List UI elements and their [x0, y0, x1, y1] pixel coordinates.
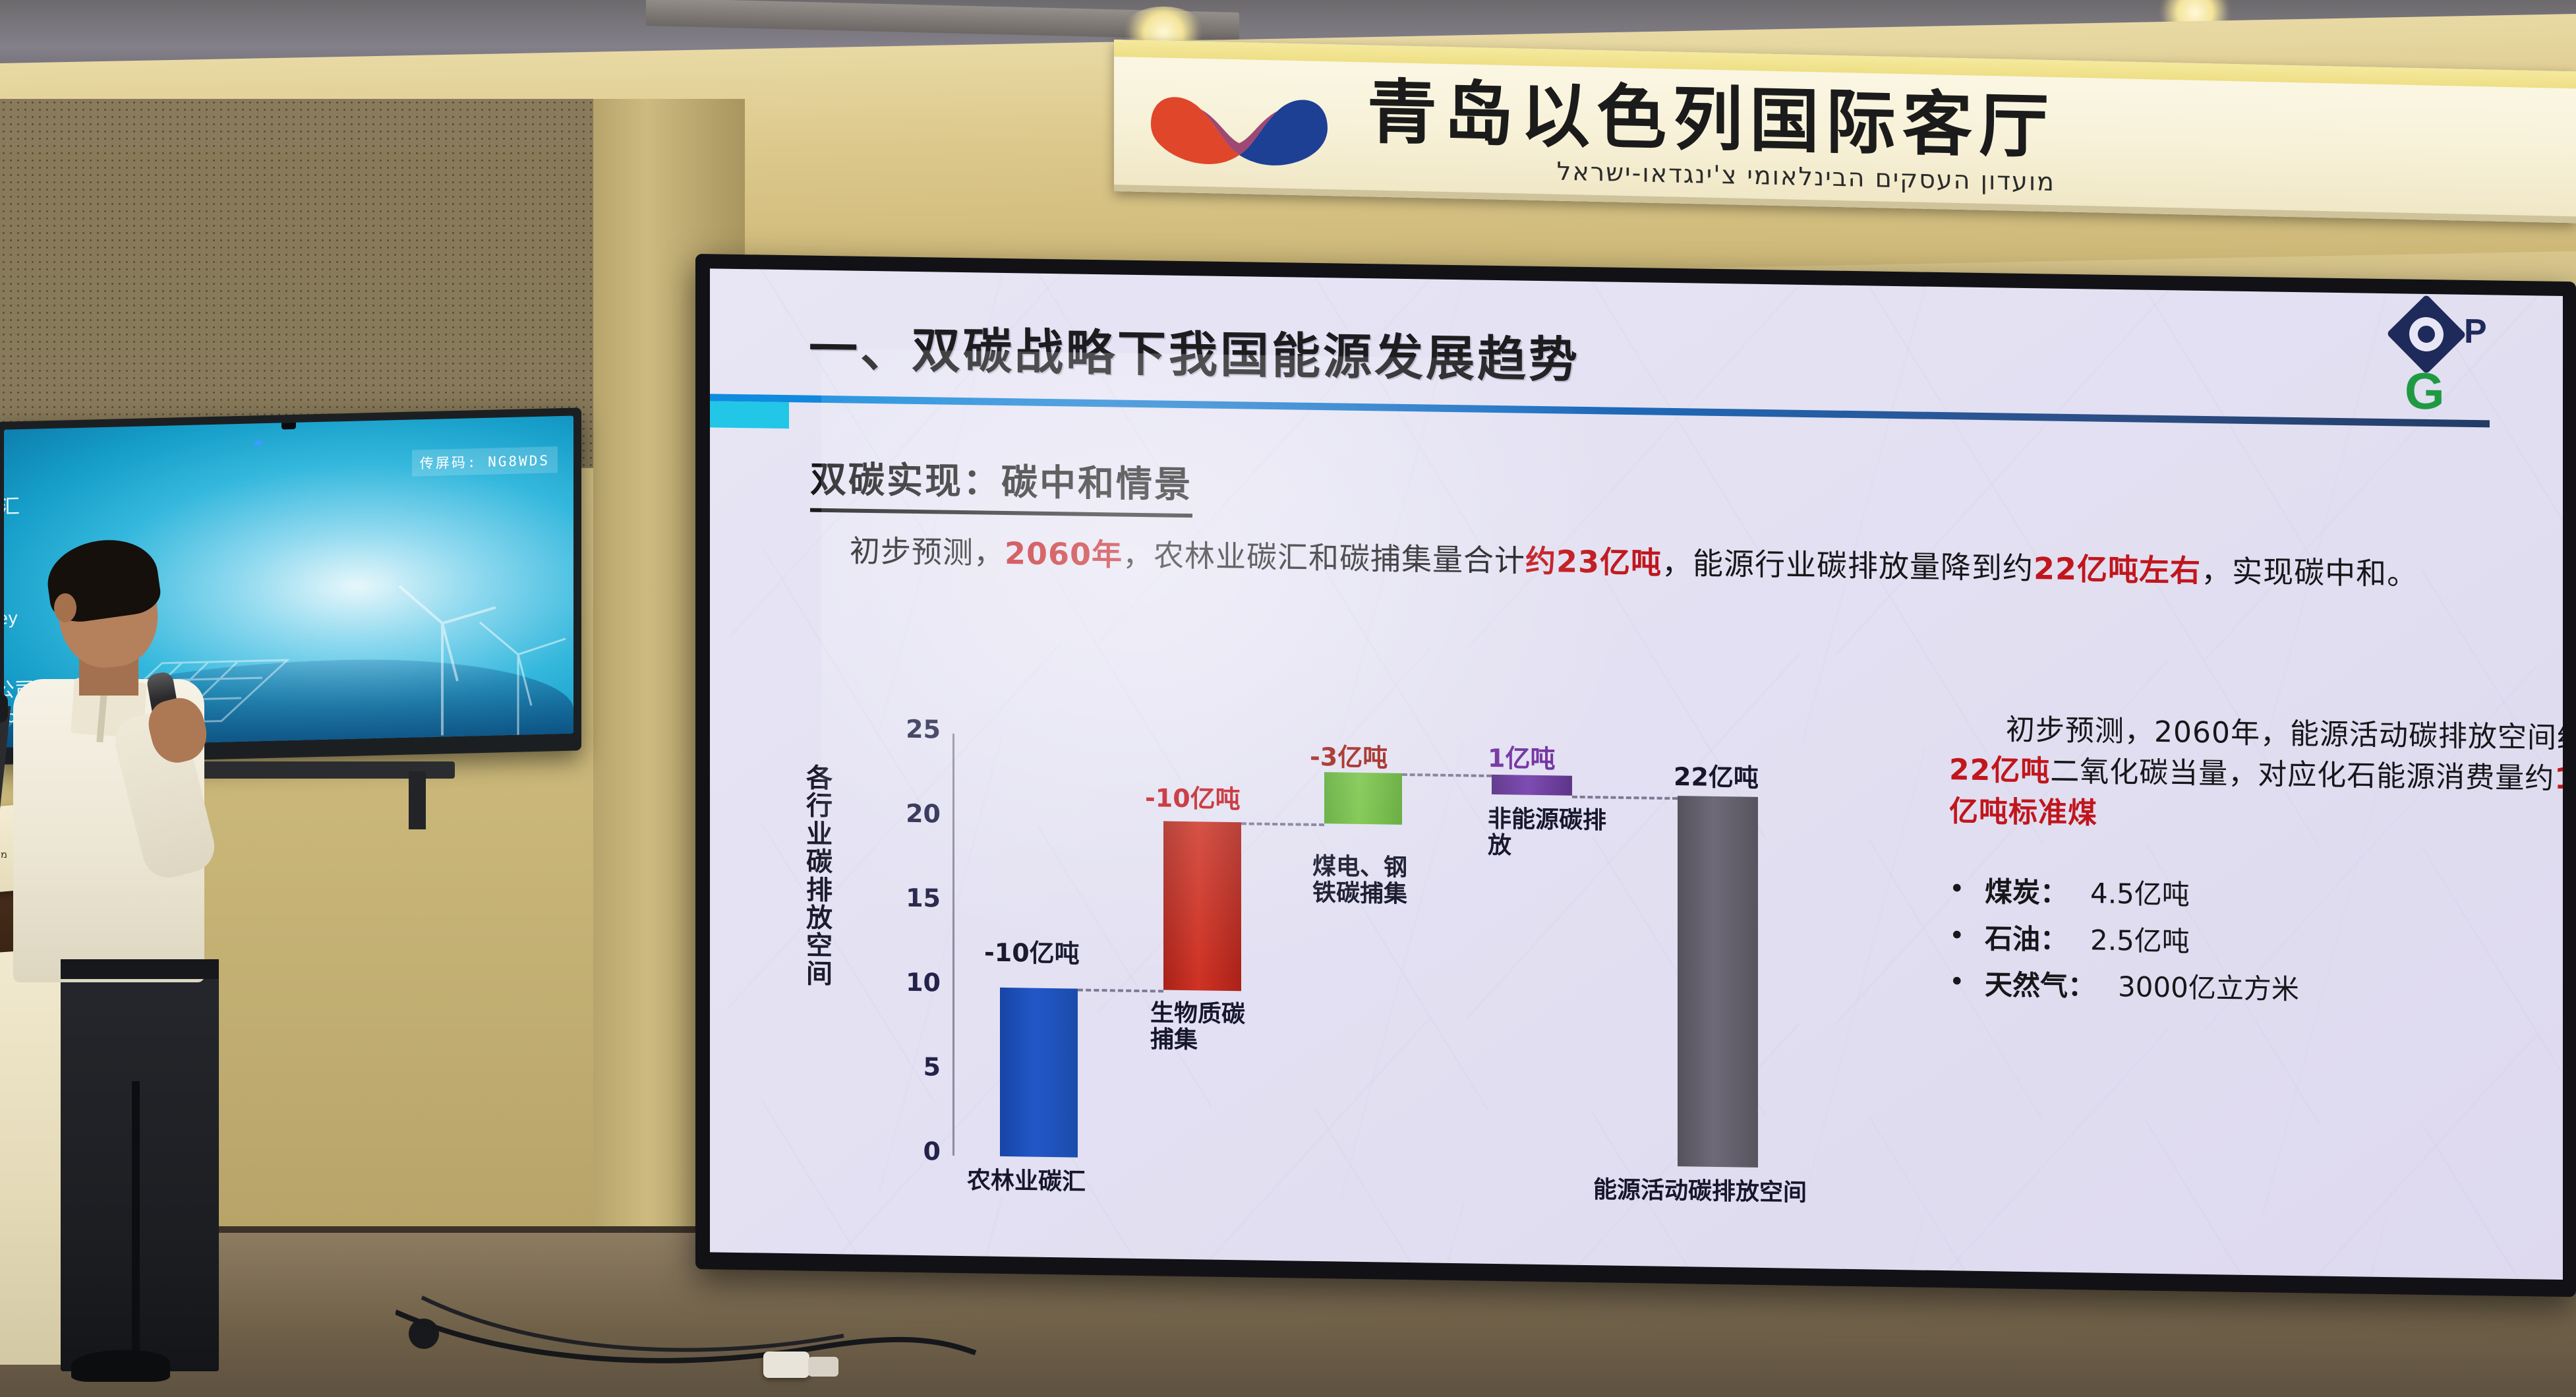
right-highlight-22yi: 22亿吨 [1949, 754, 2050, 788]
para-text-1: 初步预测， [850, 533, 1005, 570]
presenter-legs [61, 969, 219, 1371]
connector-1 [1078, 989, 1163, 993]
fuel-bullet-list: • 煤炭： 4.5亿吨 • 石油： 2.5亿吨 • 天然气： 3000亿立方米 [1949, 874, 2563, 1013]
bar-meidian-gangtie-tanbuji [1324, 772, 1402, 825]
main-paragraph: 初步预测，2060年，农林业碳汇和碳捕集量合计约23亿吨，能源行业碳排放量降到约… [789, 528, 2563, 599]
bullet-label: 天然气： [1985, 966, 2095, 1005]
right-text-2: 二氧化碳当量，对应化石能源消费量约 [2050, 755, 2554, 796]
bullet-value: 4.5亿吨 [2090, 876, 2190, 914]
bar-shengwuzhi-tanbuji [1163, 821, 1241, 992]
page-title: 一、双碳战略下我国能源发展趋势 [809, 310, 1580, 392]
presenter-leg-split [132, 1081, 140, 1371]
bar-value-label-nengyuan: 22亿吨 [1674, 756, 1759, 794]
banner-chinese-title: 青岛以色列国际客厅 [1367, 77, 2055, 162]
para-text-2: ，农林业碳汇和碳捕集量合计 [1123, 537, 1525, 579]
y-tick: 10 [906, 968, 941, 997]
power-plug [808, 1357, 838, 1377]
bar-nengyuan-huodong-tanpaifang-kongjian [1678, 796, 1758, 1168]
connector-3 [1402, 773, 1492, 777]
bar-nonglinye-tanhui [1000, 988, 1078, 1158]
bar-category-label-nengyuan: 能源活动碳排放空间 [1593, 1170, 1807, 1208]
list-item: • 石油： 2.5亿吨 [1949, 920, 2563, 966]
right-column: 初步预测，2060年，能源活动碳排放空间约22亿吨二氧化碳当量，对应化石能源消费… [1949, 709, 2563, 1023]
para-highlight-23yi: 约23亿吨 [1525, 543, 1662, 581]
para-highlight-2060: 2060年 [1005, 535, 1123, 573]
qingdao-israel-swoosh-logo [1140, 75, 1338, 179]
screenshot-root: 青岛以色列国际客厅 מועדון העסקים הבינלאומי צ'ינגד… [0, 0, 2576, 1397]
bullet-dot-icon: • [1949, 874, 1985, 906]
list-item: • 天然气： 3000亿立方米 [1949, 966, 2563, 1013]
bar-category-label-feinengyuan: 非能源碳排放 [1488, 806, 1606, 861]
slide: P G 一、双碳战略下我国能源发展趋势 双碳实现：碳中和情景 初步预测，2060… [710, 268, 2563, 1280]
slide-subtitle: 双碳实现：碳中和情景 [810, 450, 1192, 518]
bar-category-label-nonglinye: 农林业碳汇 [967, 1161, 1086, 1197]
chart-y-ticks: 25 20 15 10 5 0 [862, 726, 941, 1162]
connector-2 [1241, 822, 1324, 826]
presenter-shoe [71, 1350, 170, 1382]
bar-value-label-meidian: -3亿吨 [1310, 736, 1388, 774]
para-highlight-22yi: 22亿吨左右 [2034, 550, 2201, 589]
right-paragraph: 初步预测，2060年，能源活动碳排放空间约22亿吨二氧化碳当量，对应化石能源消费… [1949, 709, 2563, 842]
bullet-dot-icon: • [1949, 966, 1985, 998]
y-tick: 25 [906, 715, 941, 744]
chart-y-axis-line [952, 734, 954, 1156]
y-tick: 20 [906, 799, 941, 829]
wind-turbine-icon [459, 607, 573, 747]
bullet-value: 3000亿立方米 [2118, 968, 2299, 1008]
connector-4 [1572, 796, 1678, 800]
para-text-4: ，实现碳中和。 [2201, 553, 2418, 592]
para-text-3: ，能源行业碳排放量降到约 [1662, 545, 2034, 586]
bar-feinengyuan-tanpaifang [1492, 775, 1572, 796]
presenter-belt [61, 959, 219, 979]
cast-code-badge: 传屏码: NG8WDS [412, 446, 558, 476]
status-led-indicator [254, 440, 262, 446]
carbon-waterfall-chart: 各行业碳排放空间 25 20 15 10 5 0 -10亿吨 农林业碳汇 [796, 725, 1903, 1242]
title-cyan-accent [710, 401, 789, 429]
bar-category-label-meidian: 煤电、钢铁碳捕集 [1312, 854, 1418, 908]
y-tick: 5 [923, 1052, 941, 1081]
secondary-display-text-1: 汇 [4, 490, 20, 520]
y-tick: 0 [923, 1137, 941, 1166]
presentation-display: P G 一、双碳战略下我国能源发展趋势 双碳实现：碳中和情景 初步预测，2060… [695, 254, 2576, 1297]
bar-value-label-nonglinye: -10亿吨 [984, 932, 1080, 969]
bullet-label: 石油： [1985, 920, 2068, 959]
bar-value-label-shengwuzhi: -10亿吨 [1145, 777, 1241, 815]
right-text-1: 初步预测，2060年，能源活动碳排放空间约 [2006, 713, 2563, 755]
list-item: • 煤炭： 4.5亿吨 [1949, 874, 2563, 920]
bullet-label: 煤炭： [1985, 874, 2068, 912]
microphone-stand-head [0, 694, 8, 723]
display-stand-leg [409, 771, 426, 829]
bar-value-label-feinengyuan: 1亿吨 [1488, 738, 1555, 775]
chart-y-axis-title: 各行业碳排放空间 [796, 764, 843, 988]
logo-green-text: G [2405, 361, 2446, 421]
secondary-display-text-2: ey [4, 609, 18, 629]
bar-category-label-shengwuzhi: 生物质碳捕集 [1150, 1000, 1256, 1055]
chart-plot-area: -10亿吨 农林业碳汇 -10亿吨 生物质碳捕集 -3亿吨 煤电、钢铁碳捕集 [960, 734, 1896, 1170]
podium-sign-hebrew: מועדון [0, 848, 8, 860]
bullet-value: 2.5亿吨 [2090, 922, 2190, 961]
y-tick: 15 [906, 883, 941, 913]
power-adapter [763, 1352, 809, 1378]
floor-cable [395, 1292, 989, 1397]
company-logo: P G [2365, 300, 2563, 422]
bullet-dot-icon: • [1949, 920, 1985, 952]
presenter-ear [54, 593, 76, 622]
venue-banner: 青岛以色列国际客厅 מועדון העסקים הבינלאומי צ'ינגד… [1114, 40, 2576, 223]
logo-wordmark: P [2464, 312, 2488, 352]
title-underline-rule [710, 394, 2490, 427]
camera-icon [281, 421, 296, 430]
